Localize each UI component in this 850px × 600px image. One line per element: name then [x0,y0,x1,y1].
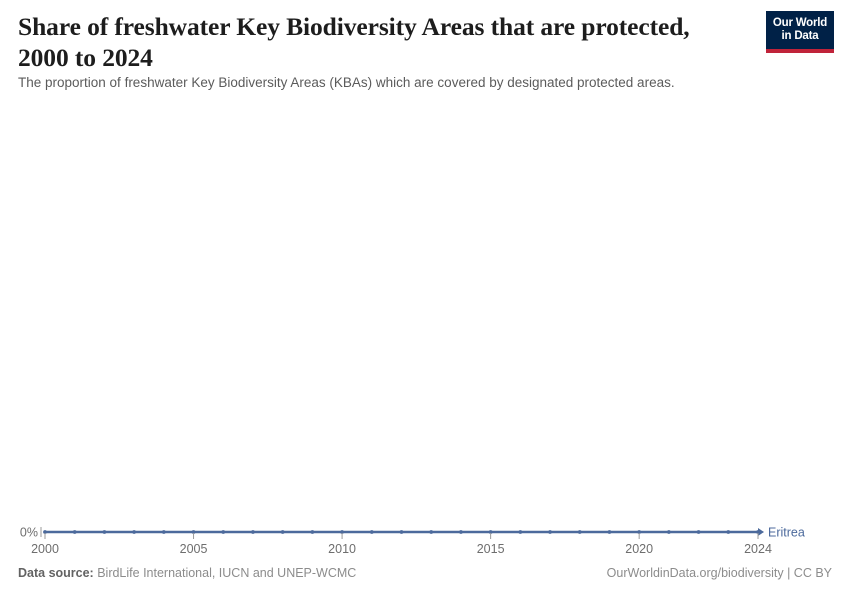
data-point-marker [103,530,107,534]
owid-logo[interactable]: Our World in Data [766,11,834,53]
x-axis-tick-label: 2010 [328,542,356,556]
data-source-value: BirdLife International, IUCN and UNEP-WC… [94,566,357,580]
x-axis-tick-label: 2015 [477,542,505,556]
chart-geometry: Eritrea200020052010201520202024 [31,526,805,557]
x-axis-tick-label: 2024 [744,542,772,556]
page-title: Share of freshwater Key Biodiversity Are… [18,11,718,73]
data-source-label: Data source: [18,566,94,580]
chart-canvas: 0% Eritrea200020052010201520202024 [0,100,850,560]
data-point-marker [578,530,582,534]
data-source: Data source: BirdLife International, IUC… [18,566,356,580]
line-chart-svg: 0% Eritrea200020052010201520202024 [0,100,850,560]
data-point-marker [429,530,433,534]
data-point-marker [518,530,522,534]
data-point-marker [400,530,404,534]
attribution-link[interactable]: OurWorldinData.org/biodiversity | CC BY [607,566,832,580]
data-point-marker [310,530,314,534]
data-point-marker [162,530,166,534]
data-point-marker [726,530,730,534]
chart-plot-area[interactable]: 0% Eritrea200020052010201520202024 [0,100,850,560]
data-point-marker [221,530,225,534]
data-point-marker [459,530,463,534]
chart-subtitle: The proportion of freshwater Key Biodive… [18,74,758,92]
data-point-marker [132,530,136,534]
data-point-marker [73,530,77,534]
data-point-marker [697,530,701,534]
data-point-marker [251,530,255,534]
x-axis-tick-label: 2000 [31,542,59,556]
x-axis-tick-label: 2020 [625,542,653,556]
data-point-marker [548,530,552,534]
data-point-marker [667,530,671,534]
chart-footer: Data source: BirdLife International, IUC… [0,566,850,588]
series-label-eritrea[interactable]: Eritrea [768,526,805,540]
data-point-marker [281,530,285,534]
x-axis-tick-label: 2005 [180,542,208,556]
data-point-marker [370,530,374,534]
data-point-marker [608,530,612,534]
owid-logo-line-1: Our World [773,17,827,30]
owid-logo-line-2: in Data [782,30,819,43]
y-axis-tick-label: 0% [20,526,38,540]
